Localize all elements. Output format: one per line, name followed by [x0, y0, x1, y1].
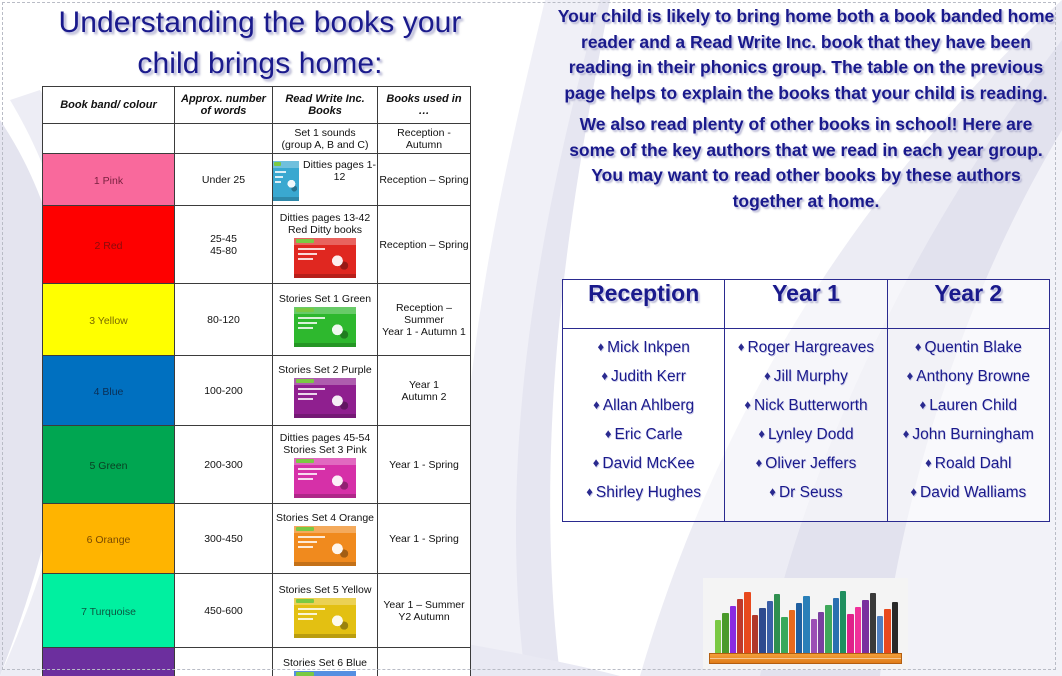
list-item: ♦Roald Dahl [894, 453, 1043, 474]
band-colour-cell: 3 Yellow [43, 284, 175, 356]
band-colour-label: 5 Green [43, 457, 174, 472]
band-word-count-cell: Under 25 [175, 154, 273, 206]
bullet-diamond-icon: ♦ [915, 339, 922, 354]
bullet-diamond-icon: ♦ [605, 426, 612, 441]
book-cover-thumbnail [294, 671, 356, 676]
book-spine [803, 596, 809, 654]
bullet-diamond-icon: ♦ [586, 484, 593, 499]
authors-header-reception: Reception [563, 280, 725, 329]
bullet-diamond-icon: ♦ [744, 397, 751, 412]
author-list-year1: ♦Roger Hargreaves♦Jill Murphy♦Nick Butte… [725, 329, 886, 521]
band-colour-cell: 8 Purple [43, 648, 175, 676]
band-rwi-label: Ditties pages 1-12 [302, 159, 377, 183]
table-row: 3 Yellow80-120Stories Set 1 GreenRecepti… [43, 284, 471, 356]
table-row: 8 Purple600-850Stories Set 6 BlueY2 Autu… [43, 648, 471, 676]
list-item: ♦David McKee [569, 453, 718, 474]
band-used-in-cell: Year 1Autumn 2 [378, 356, 471, 426]
band-header-rwi: Read Write Inc. Books [273, 87, 378, 124]
band-word-count-cell: 80-120 [175, 284, 273, 356]
list-item: ♦Roger Hargreaves [731, 337, 880, 358]
list-item: ♦Jill Murphy [731, 366, 880, 387]
book-spine [752, 615, 758, 654]
book-spine [825, 605, 831, 654]
table-row: 4 Blue100-200Stories Set 2 PurpleYear 1A… [43, 356, 471, 426]
authors-table: Reception Year 1 Year 2 ♦Mick Inkpen♦Jud… [562, 279, 1050, 522]
band-colour-cell: 4 Blue [43, 356, 175, 426]
bookshelf-spines [715, 590, 898, 654]
page-title-line-1: Understanding the books your [34, 2, 486, 43]
band-rwi-cell: Ditties pages 1-12 [273, 154, 378, 206]
book-spine [730, 606, 736, 654]
authors-cell-year1: ♦Roger Hargreaves♦Jill Murphy♦Nick Butte… [725, 329, 887, 522]
table-row: 6 Orange300-450Stories Set 4 OrangeYear … [43, 504, 471, 574]
band-colour-label: 7 Turquoise [43, 603, 174, 618]
book-cover-thumbnail [294, 526, 356, 566]
band-colour-cell [43, 124, 175, 154]
book-spine [715, 620, 721, 654]
band-rwi-label: Ditties pages 45-54Stories Set 3 Pink [273, 432, 377, 456]
book-spine [840, 591, 846, 654]
book-spine [811, 619, 817, 654]
bullet-diamond-icon: ♦ [738, 339, 745, 354]
band-rwi-cell: Stories Set 2 Purple [273, 356, 378, 426]
band-colour-label: 3 Yellow [43, 312, 174, 327]
book-cover-thumbnail [294, 307, 356, 347]
bullet-diamond-icon: ♦ [593, 397, 600, 412]
book-cover-thumbnail [294, 598, 356, 638]
book-spine [737, 599, 743, 654]
authors-table-container: Reception Year 1 Year 2 ♦Mick Inkpen♦Jud… [562, 279, 1050, 522]
band-colour-cell: 7 Turquoise [43, 574, 175, 648]
band-rwi-label: Stories Set 6 Blue [273, 657, 377, 669]
band-colour-cell: 2 Red [43, 206, 175, 284]
author-list-year2: ♦Quentin Blake♦Anthony Browne♦Lauren Chi… [888, 329, 1049, 521]
page-title: Understanding the books your child bring… [34, 2, 486, 84]
bullet-diamond-icon: ♦ [910, 484, 917, 499]
bullet-diamond-icon: ♦ [597, 339, 604, 354]
band-rwi-label: Stories Set 5 Yellow [273, 584, 377, 596]
bullet-diamond-icon: ♦ [764, 368, 771, 383]
list-item: ♦Mick Inkpen [569, 337, 718, 358]
band-used-in-cell: Reception - Autumn [378, 124, 471, 154]
list-item: ♦Allan Ahlberg [569, 395, 718, 416]
band-word-count-cell: 600-850 [175, 648, 273, 676]
bookshelf-image [703, 578, 908, 670]
book-spine [722, 613, 728, 654]
list-item: ♦Eric Carle [569, 424, 718, 445]
book-spine [781, 617, 787, 654]
page-title-line-2: child brings home: [34, 43, 486, 84]
band-rwi-cell: Set 1 sounds(group A, B and C) [273, 124, 378, 154]
intro-text-block: Your child is likely to bring home both … [556, 4, 1056, 218]
bullet-diamond-icon: ♦ [769, 484, 776, 499]
bullet-diamond-icon: ♦ [903, 426, 910, 441]
band-used-in-cell: Reception – Spring [378, 154, 471, 206]
list-item: ♦Lauren Child [894, 395, 1043, 416]
band-table-body: Set 1 sounds(group A, B and C)Reception … [43, 124, 471, 676]
band-colour-cell: 6 Orange [43, 504, 175, 574]
band-rwi-cell: Stories Set 1 Green [273, 284, 378, 356]
band-table-header-row: Book band/ colour Approx. number of word… [43, 87, 471, 124]
band-colour-label [43, 137, 174, 140]
bullet-diamond-icon: ♦ [601, 368, 608, 383]
table-row: 7 Turquoise450-600Stories Set 5 YellowYe… [43, 574, 471, 648]
band-colour-cell: 1 Pink [43, 154, 175, 206]
band-rwi-cell: Ditties pages 13-42Red Ditty books [273, 206, 378, 284]
book-spine [892, 602, 898, 654]
bullet-diamond-icon: ♦ [925, 455, 932, 470]
authors-header-row: Reception Year 1 Year 2 [563, 280, 1050, 329]
book-spine [789, 610, 795, 654]
band-rwi-label: Stories Set 4 Orange [273, 512, 377, 524]
band-header-colour: Book band/ colour [43, 87, 175, 124]
band-used-in-cell: Year 1 – SummerY2 Autumn [378, 574, 471, 648]
book-spine [847, 614, 853, 654]
list-item: ♦Anthony Browne [894, 366, 1043, 387]
band-used-in-cell: Year 1 - Spring [378, 426, 471, 504]
table-row: 1 PinkUnder 25Ditties pages 1-12Receptio… [43, 154, 471, 206]
book-spine [855, 607, 861, 654]
list-item: ♦Shirley Hughes [569, 482, 718, 503]
band-colour-cell: 5 Green [43, 426, 175, 504]
band-word-count-cell: 25-4545-80 [175, 206, 273, 284]
list-item: ♦Oliver Jeffers [731, 453, 880, 474]
band-rwi-cell: Stories Set 5 Yellow [273, 574, 378, 648]
table-row: 2 Red25-4545-80Ditties pages 13-42Red Di… [43, 206, 471, 284]
band-rwi-cell: Ditties pages 45-54Stories Set 3 Pink [273, 426, 378, 504]
bullet-diamond-icon: ♦ [920, 397, 927, 412]
bookshelf-plank [709, 653, 902, 664]
band-colour-label: 6 Orange [43, 531, 174, 546]
book-spine [767, 601, 773, 654]
band-rwi-cell: Stories Set 4 Orange [273, 504, 378, 574]
book-spine [796, 603, 802, 654]
band-colour-label: 4 Blue [43, 383, 174, 398]
band-used-in-cell: Reception – Spring [378, 206, 471, 284]
band-used-in-cell: Year 1 - Spring [378, 504, 471, 574]
band-header-words: Approx. number of words [175, 87, 273, 124]
list-item: ♦David Walliams [894, 482, 1043, 503]
band-rwi-label: Stories Set 1 Green [273, 293, 377, 305]
list-item: ♦Dr Seuss [731, 482, 880, 503]
band-rwi-cell: Stories Set 6 Blue [273, 648, 378, 676]
bullet-diamond-icon: ♦ [593, 455, 600, 470]
author-list-reception: ♦Mick Inkpen♦Judith Kerr♦Allan Ahlberg♦E… [563, 329, 724, 521]
book-spine [870, 593, 876, 654]
table-row: 5 Green200-300Ditties pages 45-54Stories… [43, 426, 471, 504]
band-word-count-cell: 100-200 [175, 356, 273, 426]
book-spine [833, 598, 839, 654]
authors-cell-year2: ♦Quentin Blake♦Anthony Browne♦Lauren Chi… [887, 329, 1049, 522]
band-rwi-label: Stories Set 2 Purple [273, 364, 377, 376]
slide-canvas: Understanding the books your child bring… [0, 0, 1062, 676]
list-item: ♦Nick Butterworth [731, 395, 880, 416]
band-used-in-cell: Reception – SummerYear 1 - Autumn 1 [378, 284, 471, 356]
list-item: ♦Judith Kerr [569, 366, 718, 387]
band-colour-label: 1 Pink [43, 172, 174, 187]
bullet-diamond-icon: ♦ [758, 426, 765, 441]
band-word-count-cell [175, 124, 273, 154]
book-cover-thumbnail [294, 378, 356, 418]
book-spine [884, 609, 890, 654]
bullet-diamond-icon: ♦ [756, 455, 763, 470]
table-row: Set 1 sounds(group A, B and C)Reception … [43, 124, 471, 154]
intro-paragraph-1: Your child is likely to bring home both … [556, 4, 1056, 106]
book-cover-thumbnail [273, 161, 299, 201]
book-spine [818, 612, 824, 654]
authors-cell-reception: ♦Mick Inkpen♦Judith Kerr♦Allan Ahlberg♦E… [563, 329, 725, 522]
book-cover-thumbnail [294, 458, 356, 498]
band-header-used: Books used in … [378, 87, 471, 124]
intro-paragraph-2: We also read plenty of other books in sc… [556, 112, 1056, 214]
bullet-diamond-icon: ♦ [907, 368, 914, 383]
book-spine [774, 594, 780, 654]
band-rwi-label: Set 1 sounds(group A, B and C) [273, 127, 377, 151]
authors-header-year1: Year 1 [725, 280, 887, 329]
book-cover-thumbnail [294, 238, 356, 278]
band-word-count-cell: 450-600 [175, 574, 273, 648]
book-spine [744, 592, 750, 654]
list-item: ♦Quentin Blake [894, 337, 1043, 358]
list-item: ♦John Burningham [894, 424, 1043, 445]
book-band-table-container: Book band/ colour Approx. number of word… [42, 86, 470, 676]
book-spine [759, 608, 765, 654]
book-band-table: Book band/ colour Approx. number of word… [42, 86, 471, 676]
list-item: ♦Lynley Dodd [731, 424, 880, 445]
band-word-count-cell: 300-450 [175, 504, 273, 574]
authors-header-year2: Year 2 [887, 280, 1049, 329]
band-word-count-cell: 200-300 [175, 426, 273, 504]
book-spine [862, 600, 868, 654]
band-rwi-label: Ditties pages 13-42Red Ditty books [273, 212, 377, 236]
band-colour-label: 2 Red [43, 237, 174, 252]
authors-body-row: ♦Mick Inkpen♦Judith Kerr♦Allan Ahlberg♦E… [563, 329, 1050, 522]
band-used-in-cell: Y2 Autumn [378, 648, 471, 676]
book-spine [877, 616, 883, 654]
